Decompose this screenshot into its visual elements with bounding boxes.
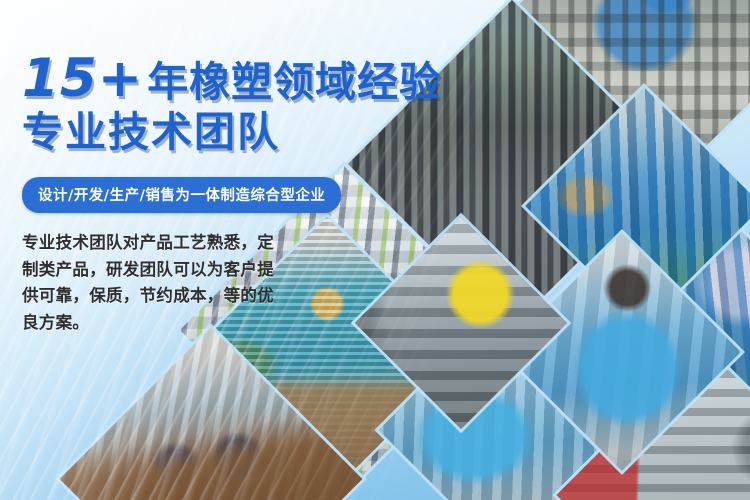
headline-primary: 15 + 年橡塑领域经验: [22, 52, 441, 105]
banner-text-block: 15 + 年橡塑领域经验 专业技术团队 设计/开发/生产/销售为一体制造综合型企…: [0, 0, 470, 500]
collage-tile-component-assembly-area: [525, 87, 750, 325]
collage-tile-operator-at-workstation: [503, 233, 741, 471]
collage-tile-quality-inspection-benches: [518, 172, 750, 500]
promotional-banner: 15 + 年橡塑领域经验 专业技术团队 设计/开发/生产/销售为一体制造综合型企…: [0, 0, 750, 500]
component-assembly-area-image: [525, 87, 750, 325]
capability-badge: 设计/开发/生产/销售为一体制造综合型企业: [22, 177, 341, 213]
hydraulic-press-station-image: [557, 347, 750, 500]
quality-inspection-benches-image: [518, 172, 750, 500]
injection-molding-machines-image: [518, 0, 750, 170]
plus-sign-icon: +: [98, 52, 143, 105]
collage-tile-hydraulic-press-station: [557, 347, 750, 500]
years-number: 15: [22, 52, 98, 105]
headline-secondary: 专业技术团队: [22, 112, 280, 153]
description-paragraph: 专业技术团队对产品工艺熟悉，定制类产品，研发团队可以为客户提供可靠，保质，节约成…: [22, 230, 290, 337]
headline-suffix: 年橡塑领域经验: [147, 62, 441, 103]
collage-tile-injection-molding-machines: [518, 0, 750, 170]
operator-at-workstation-image: [503, 233, 741, 471]
